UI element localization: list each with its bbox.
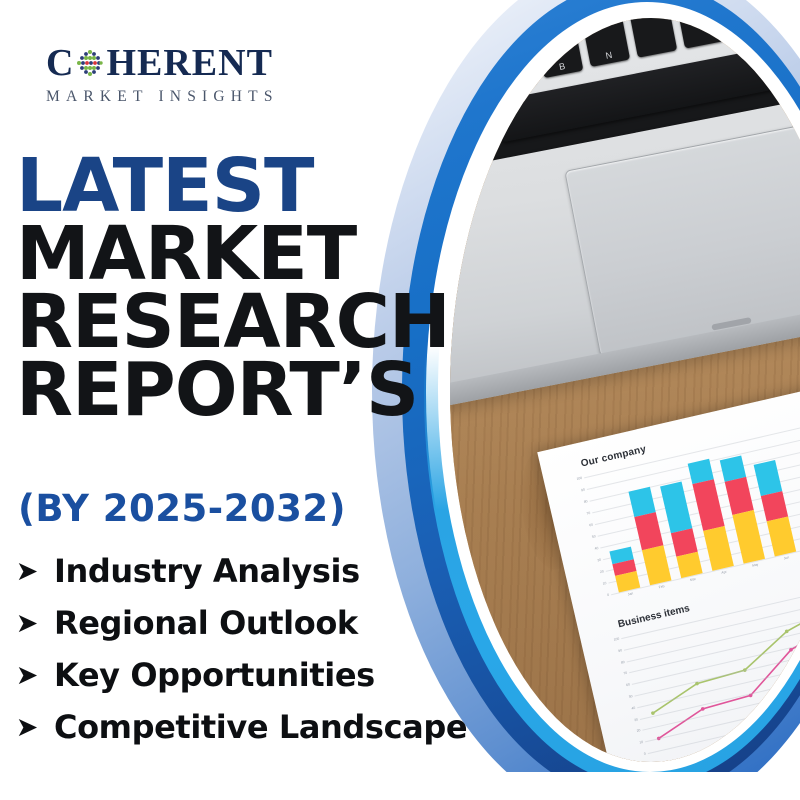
- bullet-label: Competitive Landscape: [54, 708, 467, 746]
- y-tick-label: 50: [592, 534, 597, 539]
- line-chart-y-axis: 0102030405060708090100: [602, 639, 646, 758]
- bar-chart-gridlines: [584, 415, 800, 478]
- gridline: [611, 532, 800, 596]
- key-label: N: [605, 50, 613, 61]
- y-tick-label: 0: [607, 593, 610, 597]
- brand-tagline: MARKET INSIGHTS: [46, 88, 316, 106]
- headline-line-1: LATEST: [16, 152, 516, 220]
- y-tick-label: 40: [631, 706, 636, 711]
- y-tick-label: 10: [639, 740, 644, 745]
- y-tick-label: 20: [636, 729, 641, 734]
- keyboard-key-option: option: [783, 18, 800, 26]
- list-item: ➤ Industry Analysis: [14, 552, 514, 590]
- gridline: [634, 633, 800, 697]
- y-tick-label: 60: [626, 683, 631, 688]
- bar-column: [628, 487, 671, 585]
- gridline: [600, 485, 800, 549]
- bar-column: [720, 456, 765, 564]
- y-tick-label: 0: [644, 752, 647, 756]
- keyboard-key-n: N: [583, 18, 630, 67]
- bar-chart-y-axis: 0102030405060708090100: [565, 478, 610, 599]
- bar-column: [609, 547, 640, 593]
- gridline: [648, 691, 800, 755]
- trackpad-notch: [711, 317, 751, 331]
- gridline: [642, 668, 800, 732]
- gridline: [624, 587, 800, 651]
- line-data-point: [748, 693, 752, 697]
- line-chart-svg: [621, 576, 800, 754]
- headline-block: LATEST MARKET RESEARCH REPORT’S: [16, 152, 516, 424]
- bar-chart: 0102030405060708090100 JanFebMarAprMayJu…: [584, 415, 800, 594]
- key-label: command: [743, 25, 776, 38]
- line-chart: 0102030405060708090100: [621, 576, 800, 754]
- bar-column: [660, 482, 702, 578]
- y-tick-label: 100: [613, 637, 619, 642]
- list-item: ➤ Key Opportunities: [14, 656, 514, 694]
- bar-segment: [761, 491, 788, 522]
- bar-segment: [612, 559, 636, 576]
- printed-report-paper: Our company 0102030405060708090100 JanFe…: [537, 378, 800, 762]
- feature-bullet-list: ➤ Industry Analysis ➤ Regional Outlook ➤…: [14, 552, 514, 760]
- bar-segment: [732, 510, 765, 564]
- line-data-point: [785, 629, 789, 633]
- line-chart-title: Business items: [617, 558, 800, 631]
- gridline: [637, 645, 800, 709]
- bar-segment: [628, 487, 655, 518]
- bullet-label: Key Opportunities: [54, 656, 375, 694]
- line-data-point: [651, 711, 655, 715]
- bar-segment: [754, 460, 782, 495]
- keyboard-key-m: [630, 18, 677, 58]
- gridline: [608, 520, 800, 584]
- x-tick-label: Apr: [713, 568, 735, 577]
- headline-line-2: MARKET: [16, 220, 516, 288]
- bar-segment: [692, 479, 724, 531]
- bullet-label: Regional Outlook: [54, 604, 358, 642]
- bar-column: [688, 458, 734, 571]
- arrow-bullet-icon: ➤: [14, 610, 40, 636]
- x-tick-label: May: [744, 561, 766, 570]
- bar-segment: [660, 482, 692, 534]
- y-tick-label: 50: [628, 694, 633, 699]
- bar-segment: [688, 458, 714, 484]
- y-tick-label: 90: [581, 488, 586, 493]
- x-tick-label: Feb: [651, 582, 673, 591]
- y-tick-label: 100: [576, 476, 582, 481]
- line-data-point: [695, 681, 699, 685]
- line-data-point: [743, 668, 747, 672]
- bar-segment: [615, 571, 640, 592]
- y-tick-label: 70: [623, 671, 628, 676]
- gridline: [627, 599, 800, 663]
- bar-segment: [642, 545, 672, 585]
- brand-name-prefix: C: [46, 44, 74, 82]
- line-series: [637, 588, 800, 713]
- y-tick-label: 70: [586, 511, 591, 516]
- brand-name-suffix: HERENT: [106, 44, 272, 82]
- gridline: [584, 415, 800, 479]
- bar-segment: [609, 547, 633, 565]
- x-tick-label: Mar: [682, 575, 704, 584]
- gridline: [587, 427, 800, 491]
- gridline: [640, 656, 800, 720]
- brand-logo[interactable]: C: [46, 44, 316, 106]
- keyboard-spacebar: [494, 38, 800, 142]
- keyboard-key-b: B: [536, 28, 583, 78]
- gridline: [621, 576, 800, 640]
- bar-segment: [703, 526, 734, 571]
- laptop-trackpad: [564, 119, 800, 357]
- y-tick-label: 30: [597, 558, 602, 563]
- y-tick-label: 40: [594, 546, 599, 551]
- arrow-bullet-icon: ➤: [14, 558, 40, 584]
- keyboard-key-command-right: ⌘ command: [726, 18, 786, 43]
- gridline: [595, 462, 800, 526]
- gridline: [632, 622, 800, 686]
- gridline: [603, 497, 800, 561]
- y-tick-label: 90: [618, 648, 623, 653]
- gridline: [645, 679, 800, 743]
- gridline: [598, 473, 800, 537]
- y-tick-label: 30: [634, 717, 639, 722]
- arrow-bullet-icon: ➤: [14, 662, 40, 688]
- y-tick-label: 80: [583, 499, 588, 504]
- poster-content: C: [0, 0, 520, 800]
- bottom-white-band: [0, 772, 800, 800]
- headline-line-3: RESEARCH: [16, 288, 516, 356]
- list-item: ➤ Competitive Landscape: [14, 708, 514, 746]
- bar-chart-x-axis: JanFebMarAprMayJun: [619, 534, 800, 599]
- list-item: ➤ Regional Outlook: [14, 604, 514, 642]
- arrow-bullet-icon: ➤: [14, 714, 40, 740]
- gridline: [592, 450, 800, 514]
- bullet-label: Industry Analysis: [54, 552, 360, 590]
- headline-line-4: REPORT’S: [16, 356, 516, 424]
- bar-chart-title: Our company: [580, 397, 800, 470]
- x-tick-label: Jan: [619, 589, 641, 598]
- bar-segment: [720, 456, 746, 482]
- forecast-period-subtitle: (BY 2025-2032): [18, 487, 346, 530]
- bar-segment: [676, 552, 702, 578]
- line-data-point: [701, 707, 705, 711]
- y-tick-label: 60: [589, 523, 594, 528]
- dotted-globe-icon: [75, 48, 105, 78]
- gridline: [589, 438, 800, 502]
- x-tick-label: Jun: [775, 553, 797, 562]
- bar-chart-bars: [592, 415, 800, 593]
- gridline: [629, 610, 800, 674]
- bar-column: [754, 460, 796, 556]
- line-data-point: [657, 736, 661, 740]
- line-chart-gridlines: [621, 576, 800, 639]
- y-tick-label: 80: [620, 660, 625, 665]
- key-label: B: [558, 61, 566, 72]
- bar-segment: [634, 513, 663, 551]
- brand-wordmark: C: [46, 44, 316, 82]
- keyboard-key-comma: [677, 18, 724, 49]
- y-tick-label: 10: [602, 581, 607, 586]
- line-series: [639, 598, 800, 739]
- bar-segment: [767, 516, 797, 556]
- line-data-point: [789, 648, 793, 652]
- y-tick-label: 20: [600, 569, 605, 574]
- wood-grain-knot: [514, 446, 582, 572]
- gridline: [606, 508, 800, 572]
- bar-segment: [725, 477, 754, 515]
- promo-poster: V B N ⌘ command option: [0, 0, 800, 800]
- bar-segment: [671, 529, 698, 557]
